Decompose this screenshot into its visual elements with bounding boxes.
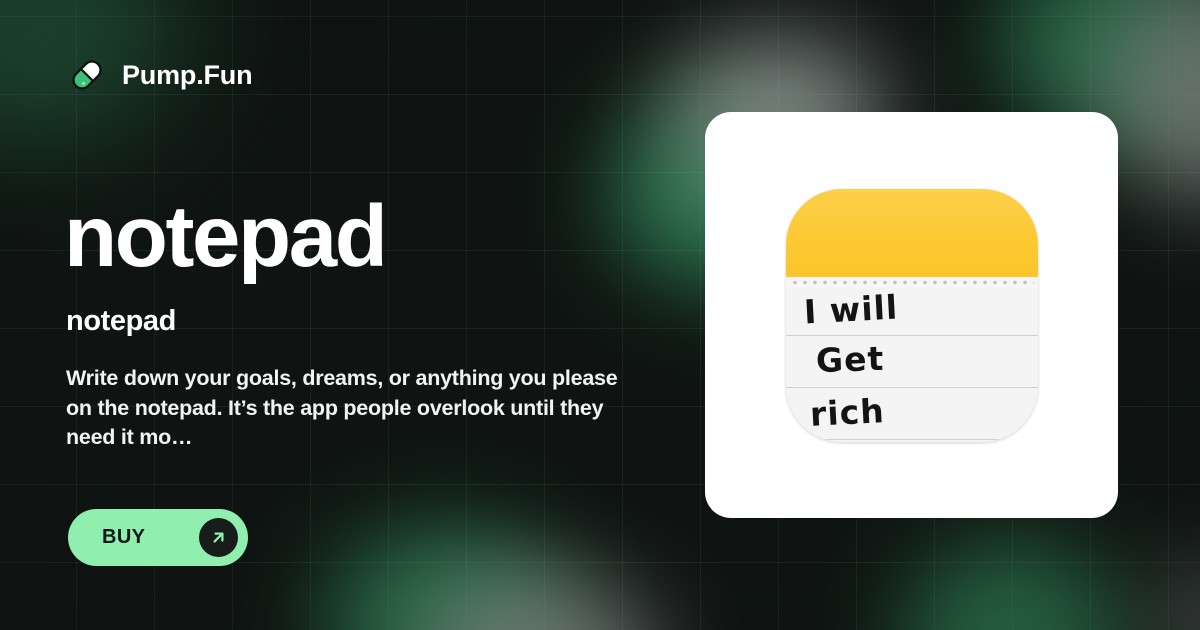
- arrow-up-right-icon: [199, 518, 238, 557]
- handwriting-text: Get: [815, 338, 885, 379]
- handwriting-line: rich: [810, 393, 885, 432]
- handwriting-line: Get: [816, 340, 884, 379]
- brand-name: Pump.Fun: [122, 60, 252, 91]
- app-icon-card: I will Get rich: [705, 112, 1118, 518]
- brand-logo[interactable]: Pump.Fun: [66, 54, 252, 96]
- buy-button[interactable]: BUY: [68, 509, 248, 566]
- buy-button-label: BUY: [102, 526, 199, 549]
- notepad-app-icon: I will Get rich: [786, 189, 1038, 442]
- handwriting-line: I will: [804, 290, 898, 329]
- notepad-header-band: [786, 189, 1038, 277]
- notepad-rule-line: [786, 335, 1038, 336]
- notepad-perforation: [786, 277, 1038, 288]
- content-layer: Pump.Fun notepad notepad Write down your…: [0, 0, 1200, 630]
- page-title: notepad: [64, 193, 386, 280]
- handwriting-text: rich: [809, 391, 886, 434]
- page-subtitle: notepad: [66, 305, 176, 338]
- handwriting-text: I will: [803, 287, 899, 331]
- notepad-rule-line: [786, 439, 1038, 440]
- page-description: Write down your goals, dreams, or anythi…: [66, 364, 636, 453]
- notepad-rule-line: [786, 387, 1038, 388]
- page-root: Pump.Fun notepad notepad Write down your…: [0, 0, 1200, 630]
- pill-icon: [66, 54, 108, 96]
